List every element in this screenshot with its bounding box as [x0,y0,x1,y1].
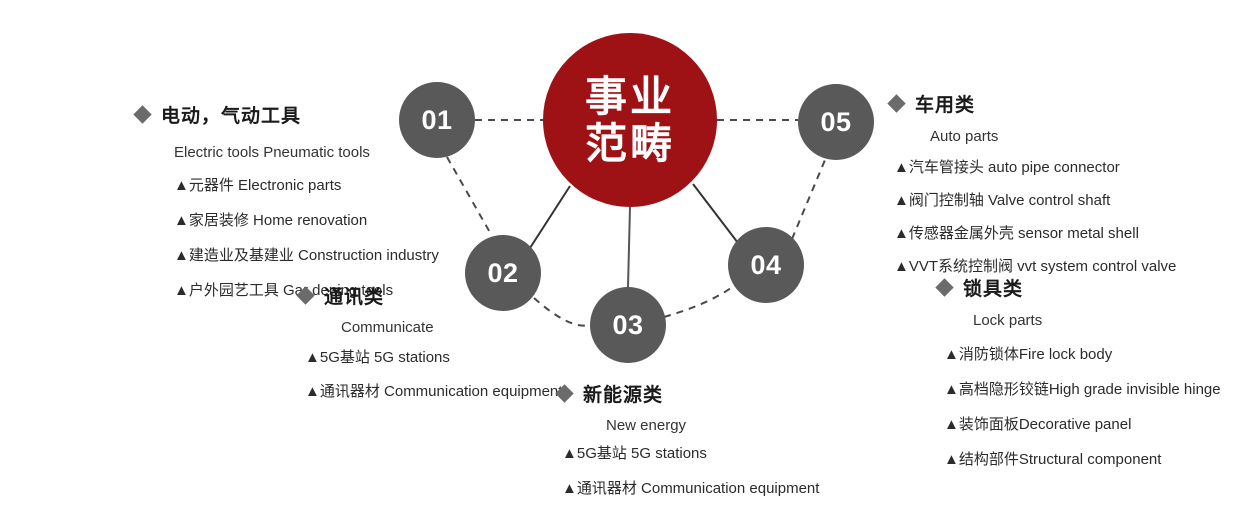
solid-link-center-02 [530,186,570,248]
category-title-cn: 通讯类 [324,282,384,309]
category-heading-new-energy: 新能源类 [558,380,819,407]
category-block-auto-parts: 车用类 Auto parts ▲汽车管接头 auto pipe connecto… [890,90,1176,288]
center-hub: 事业 范畴 [543,33,717,207]
category-title-en: Communicate [341,319,562,336]
list-item: ▲建造业及基建业 Construction industry [174,244,439,265]
list-item: ▲5G基站 5G stations [562,442,819,463]
center-title-line-2: 范畴 [585,120,675,167]
dashed-link-04-05 [792,160,825,239]
diamond-bullet-icon [887,94,905,112]
category-title-en: Lock parts [973,312,1221,329]
category-item-list-lock-parts: ▲消防锁体Fire lock body ▲高档隐形铰链High grade in… [944,343,1221,469]
category-block-lock-parts: 锁具类 Lock parts ▲消防锁体Fire lock body ▲高档隐形… [938,274,1221,483]
category-title-cn: 电动，气动工具 [161,101,301,128]
category-item-list-auto-parts: ▲汽车管接头 auto pipe connector ▲阀门控制轴 Valve … [894,156,1176,276]
category-item-list-new-energy: ▲5G基站 5G stations ▲通讯器材 Communication eq… [562,442,819,498]
list-item: ▲通讯器材 Communication equipment [562,477,819,498]
business-scope-diagram: 事业 范畴 01 02 03 04 05 电动，气动工具 Electric to… [0,0,1248,515]
list-item: ▲传感器金属外壳 sensor metal shell [894,222,1176,243]
category-heading-communication: 通讯类 [299,282,562,309]
diamond-bullet-icon [133,105,151,123]
node-04-label: 04 [750,250,781,281]
category-heading-lock-parts: 锁具类 [938,274,1221,301]
node-03[interactable]: 03 [590,287,666,363]
list-item: ▲VVT系统控制阀 vvt system control valve [894,255,1176,276]
category-title-cn: 车用类 [915,90,975,117]
list-item: ▲通讯器材 Communication equipment [305,380,562,401]
category-heading-tools: 电动，气动工具 [136,101,439,128]
category-block-communication: 通讯类 Communicate ▲5G基站 5G stations ▲通讯器材 … [299,282,562,414]
dashed-link-03-04 [664,288,731,317]
category-heading-auto-parts: 车用类 [890,90,1176,117]
node-05[interactable]: 05 [798,84,874,160]
list-item: ▲阀门控制轴 Valve control shaft [894,189,1176,210]
category-item-list-communication: ▲5G基站 5G stations ▲通讯器材 Communication eq… [305,346,562,401]
category-title-en: Electric tools Pneumatic tools [174,144,439,161]
category-title-en: New energy [606,417,819,434]
solid-link-center-03 [628,207,630,287]
center-title-line-1: 事业 [585,73,675,120]
list-item: ▲元器件 Electronic parts [174,174,439,195]
diamond-bullet-icon [935,278,953,296]
node-04[interactable]: 04 [728,227,804,303]
node-03-label: 03 [612,310,643,341]
list-item: ▲高档隐形铰链High grade invisible hinge [944,378,1221,399]
dashed-link-01-02 [447,157,492,236]
category-title-cn: 新能源类 [583,380,663,407]
diamond-bullet-icon [555,384,573,402]
solid-link-center-04 [693,184,738,243]
node-05-label: 05 [820,107,851,138]
list-item: ▲5G基站 5G stations [305,346,562,367]
list-item: ▲装饰面板Decorative panel [944,413,1221,434]
list-item: ▲汽车管接头 auto pipe connector [894,156,1176,177]
category-title-cn: 锁具类 [963,274,1023,301]
category-title-en: Auto parts [930,128,1176,145]
list-item: ▲结构部件Structural component [944,448,1221,469]
category-block-new-energy: 新能源类 New energy ▲5G基站 5G stations ▲通讯器材 … [558,380,819,512]
list-item: ▲家居装修 Home renovation [174,209,439,230]
list-item: ▲消防锁体Fire lock body [944,343,1221,364]
diamond-bullet-icon [296,286,314,304]
